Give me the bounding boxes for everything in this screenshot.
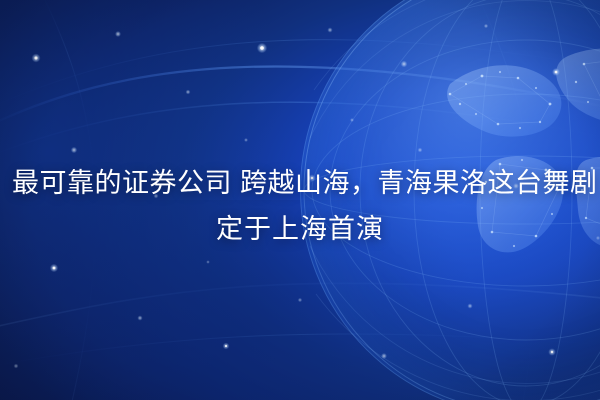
headline-line-2: 定于上海首演	[12, 206, 588, 252]
promo-banner: 最可靠的证券公司 跨越山海，青海果洛这台舞剧 定于上海首演	[0, 0, 600, 400]
headline-line-1: 最可靠的证券公司 跨越山海，青海果洛这台舞剧	[12, 160, 588, 206]
headline-text: 最可靠的证券公司 跨越山海，青海果洛这台舞剧 定于上海首演	[0, 160, 600, 252]
